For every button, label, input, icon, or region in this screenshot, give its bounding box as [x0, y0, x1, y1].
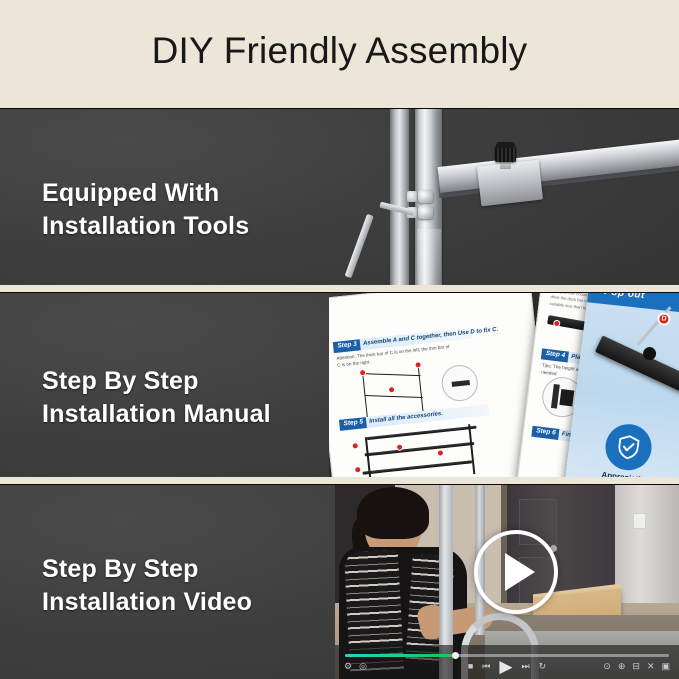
video-controls-right: ⊙ ⊕ ⊟ ✕ ▣ [603, 662, 670, 671]
allen-wrench-long-arm [345, 214, 374, 278]
blue-page-heading: Pop out [588, 293, 679, 310]
knob-stem [500, 161, 511, 169]
product-feature-card: DIY Friendly Assembly Equipped With Inst… [0, 0, 679, 679]
repeat-icon[interactable]: ↻ [539, 662, 547, 671]
black-knob-cap [496, 142, 515, 148]
part-badge-d: D [657, 312, 671, 326]
rack-shelf-bottom [362, 460, 472, 474]
snapshot-icon[interactable]: ⊕ [618, 662, 626, 671]
play-icon-control[interactable]: ▶ [499, 660, 512, 673]
person-hair [357, 487, 429, 539]
rack-badge-4 [437, 449, 445, 457]
progress-fill [345, 654, 455, 657]
step-5-number: Step 5 [340, 418, 367, 428]
shield-check-icon [603, 422, 654, 473]
rack-leg-right [468, 424, 475, 474]
rack-badge-2 [354, 466, 362, 474]
video-control-bar[interactable]: ⚙ ◎ ■ ⏮ ▶ ⏭ ↻ ⊙ ⊕ ⊟ ✕ ▣ [335, 645, 679, 679]
progress-handle[interactable] [452, 652, 459, 659]
panel-label-video: Step By Step Installation Video [42, 553, 252, 619]
step-5-title: Install all the accessories. [369, 411, 443, 425]
scene-wall-outlet [633, 513, 646, 529]
previous-icon[interactable]: ⏮ [482, 662, 490, 671]
rack-shelf-top [367, 426, 477, 440]
panel-divider-2 [0, 477, 679, 484]
play-button[interactable] [474, 530, 558, 614]
stop-icon[interactable]: ■ [468, 662, 473, 671]
step4-detail-block [559, 389, 574, 406]
panel-label-tools: Equipped With Installation Tools [42, 177, 249, 243]
tools-artwork [329, 109, 679, 289]
step-3-title: Assemble A and C together, then Use D to… [363, 326, 499, 346]
metal-sheen [417, 229, 441, 289]
play-icon [505, 553, 535, 591]
dark-bar-knob [642, 346, 656, 360]
bolt-lower [418, 206, 433, 219]
card-header: DIY Friendly Assembly [0, 0, 679, 108]
close-icon[interactable]: ✕ [647, 662, 655, 671]
feature-panel-manual: Step By Step Installation Manual Step 3 … [0, 292, 679, 482]
sketch-badge-1 [359, 369, 367, 377]
manual-page-left: Step 3 Assemble A and C together, then U… [329, 293, 551, 481]
rack-badge-1 [351, 442, 359, 450]
panel-divider-1 [0, 285, 679, 292]
step-4-number: Step 4 [542, 349, 569, 359]
page-title: DIY Friendly Assembly [152, 30, 528, 72]
volume-icon[interactable]: ⊙ [603, 662, 611, 671]
step-6-number: Step 6 [533, 427, 560, 437]
metal-rail [438, 139, 679, 193]
video-artwork[interactable]: ⚙ ◎ ■ ⏮ ▶ ⏭ ↻ ⊙ ⊕ ⊟ ✕ ▣ [335, 485, 679, 679]
bolt-upper [418, 190, 433, 203]
fullscreen-icon[interactable]: ▣ [661, 662, 670, 671]
rack-shelf-mid [365, 442, 475, 456]
rack-leg-left [365, 437, 372, 481]
panel-label-manual: Step By Step Installation Manual [42, 365, 271, 431]
sketch-line-c [362, 373, 420, 376]
next-icon[interactable]: ⏭ [521, 662, 529, 671]
shield-check-glyph [616, 434, 641, 461]
sketch-line-d [365, 395, 423, 398]
crop-icon[interactable]: ⊟ [632, 662, 640, 671]
feature-panel-tools: Equipped With Installation Tools [0, 108, 679, 290]
sketch-badge-2 [388, 386, 396, 394]
feature-panel-video: Step By Step Installation Video [0, 484, 679, 679]
sketch-badge-3 [414, 361, 422, 369]
manual-artwork: Step 3 Assemble A and C together, then U… [329, 293, 679, 481]
step-3-number: Step 3 [334, 340, 361, 350]
bolt-head-upper [407, 191, 417, 202]
